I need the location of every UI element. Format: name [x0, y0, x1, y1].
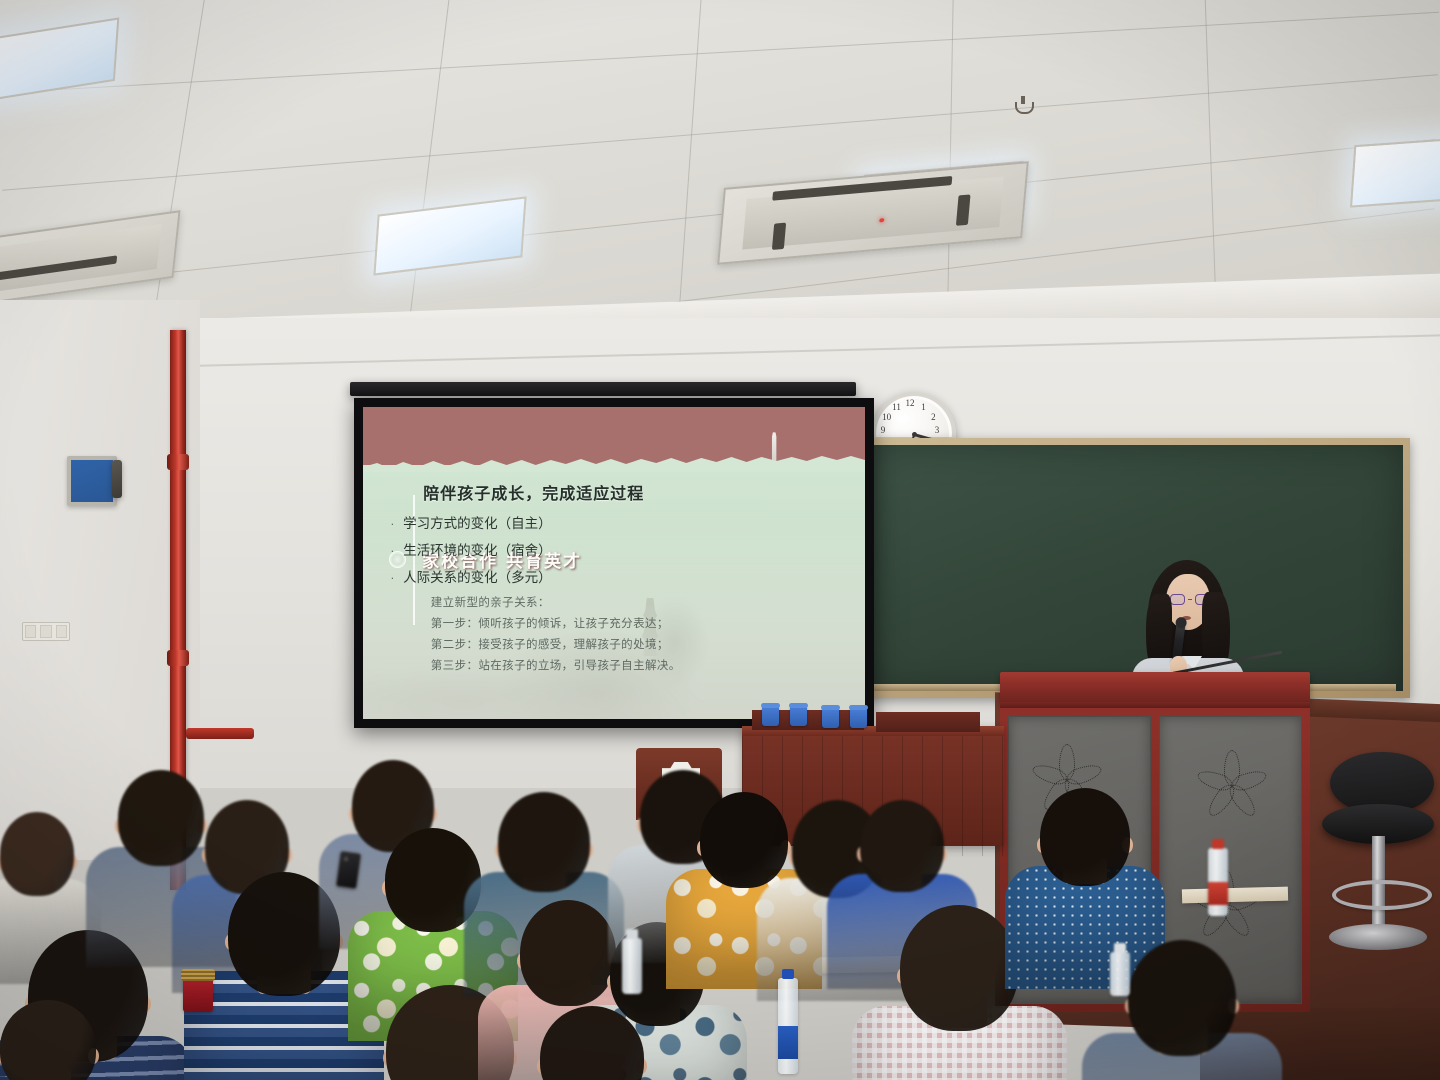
- bottle-label: [1208, 882, 1228, 905]
- stool-footring: [1332, 880, 1432, 910]
- lecture-hall-photo: 121234567891011 家校合作 共育英才 陪伴孩子成长，完成适应过程: [0, 0, 1440, 1080]
- projection-screen-case: [350, 382, 856, 396]
- slide-subline: 第二步：接受孩子的感受，理解孩子的处境；: [431, 636, 681, 652]
- attendee-head: [118, 770, 204, 866]
- slide-bullet: · 生活环境的变化（宿舍）: [391, 539, 843, 559]
- clock-center-pin: [912, 432, 917, 437]
- fire-pipe-branch: [186, 728, 254, 739]
- clock-numeral: 3: [931, 425, 943, 435]
- bullet-dot-icon: ·: [391, 519, 395, 530]
- water-bottle: [1208, 848, 1228, 916]
- dotted-flower-motif: [1194, 747, 1268, 821]
- slide-bullet-list: · 学习方式的变化（自主） · 生活环境的变化（宿舍） · 人际关系的变化（多元…: [391, 512, 843, 593]
- slide-subline: 第三步：站在孩子的立场，引导孩子自主解决。: [431, 657, 681, 673]
- bullet-dot-icon: ·: [391, 573, 395, 584]
- torn-paper-edge: [363, 456, 865, 472]
- blue-cup: [790, 706, 807, 726]
- glasses-bridge: [1188, 599, 1192, 601]
- water-bottle: [778, 978, 798, 1074]
- chalkboard: [862, 438, 1410, 698]
- thermos-lid: [181, 969, 215, 981]
- thermos-cup: [183, 978, 213, 1012]
- slide-subline: 建立新型的亲子关系：: [431, 594, 681, 610]
- attendee-head: [0, 812, 74, 896]
- wall-control-panel: [67, 456, 117, 506]
- lectern-top: [1000, 672, 1310, 702]
- attendee-table: [1182, 887, 1288, 904]
- glasses-lens-left: [1170, 594, 1185, 605]
- attendee-head: [860, 800, 944, 892]
- clock-numeral: 9: [877, 425, 889, 435]
- attendee-head: [900, 905, 1018, 1031]
- clock-numeral: 1: [918, 402, 930, 412]
- slide-title: 陪伴孩子成长，完成适应过程: [423, 480, 644, 504]
- bullet-dot-icon: ·: [391, 546, 395, 557]
- projection-screen: 家校合作 共育英才 陪伴孩子成长，完成适应过程 · 学习方式的变化（自主） · …: [354, 398, 874, 728]
- bullet-text: 生活环境的变化（宿舍）: [403, 539, 552, 559]
- bottle-cap: [1114, 943, 1126, 953]
- slide-sub-list: 建立新型的亲子关系： 第一步：倾听孩子的倾诉，让孩子充分表达； 第二步：接受孩子…: [431, 594, 681, 678]
- slide-bullet: · 学习方式的变化（自主）: [391, 512, 843, 532]
- bottle-cap: [626, 929, 638, 939]
- blue-cup: [762, 706, 779, 726]
- slide-bullet: · 人际关系的变化（多元）: [391, 566, 843, 586]
- clock-numeral: 10: [881, 412, 893, 422]
- slide-subline: 第一步：倾听孩子的倾诉，让孩子充分表达；: [431, 615, 681, 631]
- bottle-label: [778, 1026, 798, 1059]
- attendee-head: [1128, 940, 1236, 1056]
- stool-base: [1329, 924, 1427, 950]
- attendee-head: [700, 792, 788, 888]
- water-bottle: [622, 938, 642, 994]
- attendee-head: [520, 900, 616, 1006]
- slide: 家校合作 共育英才 陪伴孩子成长，完成适应过程 · 学习方式的变化（自主） · …: [363, 407, 865, 719]
- front-table-riser: [876, 712, 980, 732]
- phone-camera-icon: [343, 856, 349, 862]
- bottle-cap: [1212, 839, 1224, 849]
- clock-numeral: 2: [927, 412, 939, 422]
- attendee-head: [498, 792, 590, 892]
- ceiling-light-panel: [1350, 134, 1440, 207]
- blue-cup: [850, 708, 867, 728]
- bullet-text: 人际关系的变化（多元）: [403, 566, 552, 586]
- sprinkler-head-icon: [1015, 96, 1030, 112]
- clock-numeral: 11: [891, 402, 903, 412]
- attendee-head: [1040, 788, 1130, 886]
- bottle-cap: [782, 969, 794, 979]
- clock-numeral: 12: [904, 398, 916, 408]
- water-bottle: [1110, 952, 1130, 996]
- wall-speaker: [112, 460, 122, 498]
- blue-cup: [822, 708, 839, 728]
- light-switch-plate[interactable]: [22, 622, 70, 641]
- bullet-text: 学习方式的变化（自主）: [403, 512, 552, 532]
